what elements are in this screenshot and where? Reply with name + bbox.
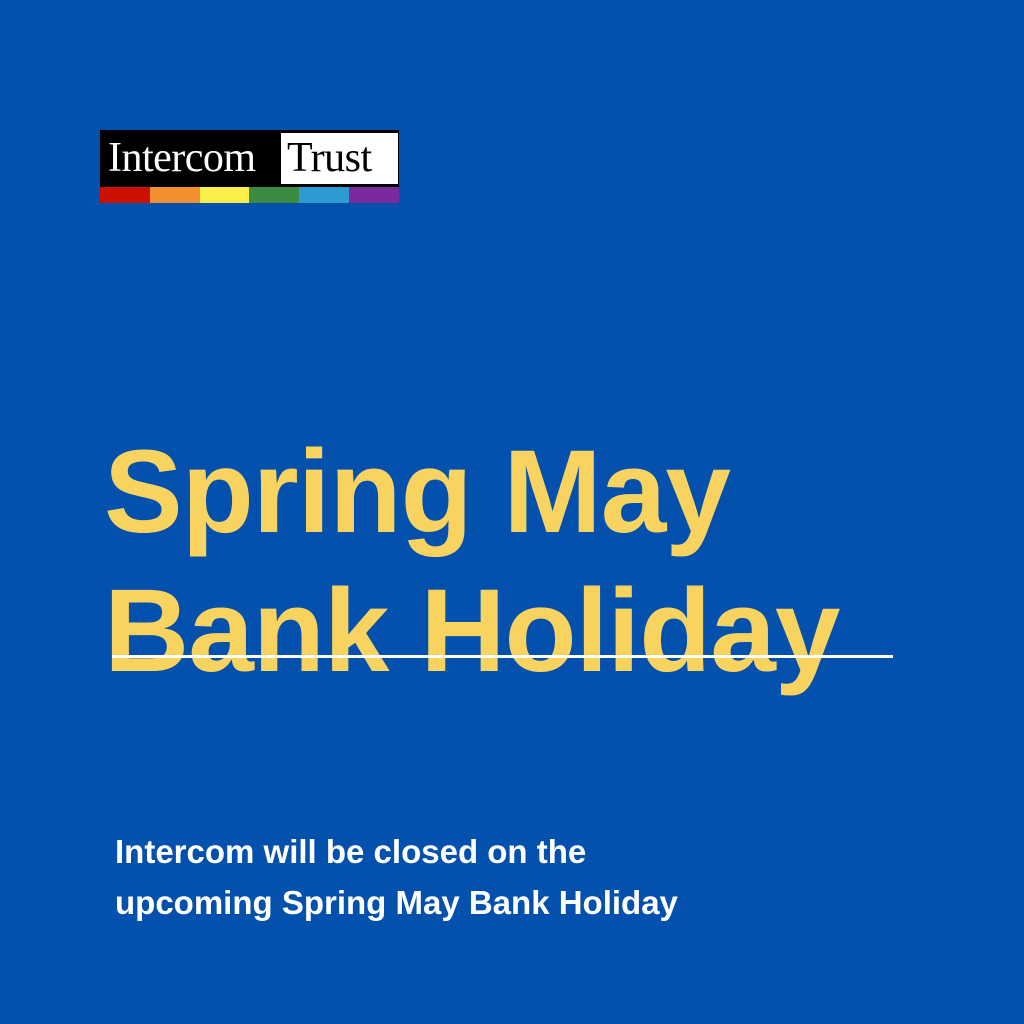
logo-wordmark-trust: Trust — [287, 137, 372, 179]
rainbow-stripe-red — [100, 187, 150, 203]
page-title: Spring May Bank Holiday — [104, 423, 924, 701]
rainbow-stripe-purple — [349, 187, 399, 203]
rainbow-stripe-green — [249, 187, 299, 203]
logo-rainbow-stripe — [100, 187, 399, 203]
body-line-1: Intercom will be closed on the — [115, 826, 915, 877]
body-line-2: upcoming Spring May Bank Holiday — [115, 877, 915, 928]
logo-wordmark-intercom: Intercom — [108, 137, 256, 179]
intercom-trust-logo: Intercom Trust — [100, 130, 399, 203]
rainbow-stripe-yellow — [200, 187, 250, 203]
rainbow-stripe-orange — [150, 187, 200, 203]
headline-line-1: Spring May — [104, 423, 924, 562]
logo-trust-box: Trust — [281, 133, 398, 184]
body-copy: Intercom will be closed on the upcoming … — [115, 826, 915, 928]
rainbow-stripe-blue — [299, 187, 349, 203]
headline-line-2: Bank Holiday — [104, 562, 924, 701]
poster-canvas: Intercom Trust Spring May Bank Holiday I… — [0, 0, 1024, 1024]
divider-rule — [112, 655, 893, 658]
logo-black-plate: Intercom Trust — [100, 130, 399, 187]
